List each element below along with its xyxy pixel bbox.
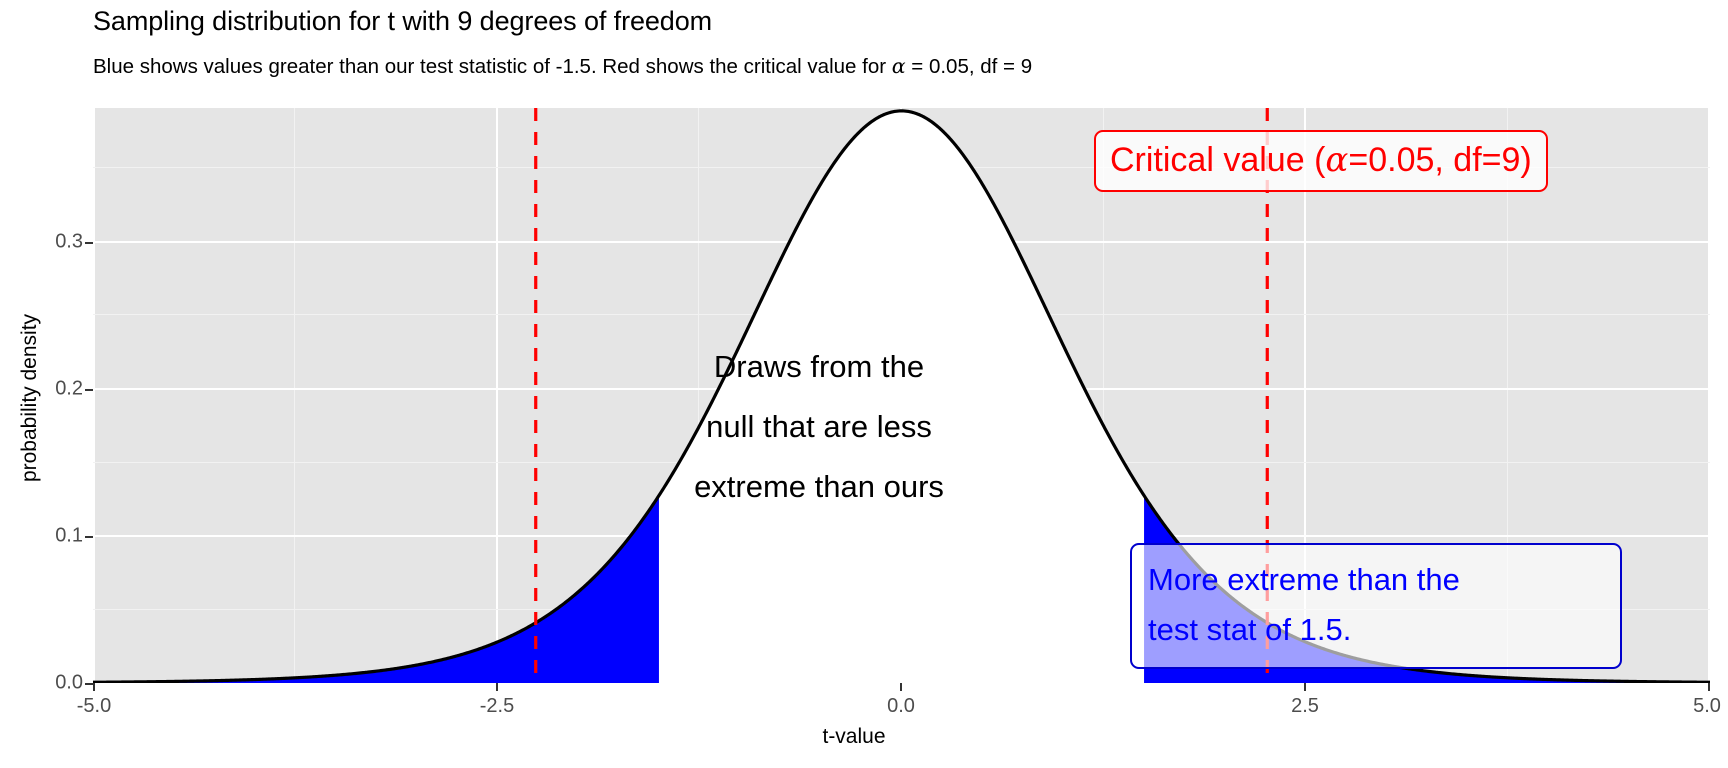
plot-panel: Draws from the null that are less extrem… (93, 108, 1710, 683)
y-tick-mark (85, 683, 93, 685)
y-tick-label: 0.2 (55, 378, 83, 401)
critical-annotation-alpha-symbol: α (1325, 140, 1348, 180)
x-tick-label: 5.0 (1693, 695, 1721, 718)
more-extreme-annotation-line1: More extreme than the (1148, 555, 1606, 605)
subtitle-alpha-symbol: α (892, 54, 906, 78)
x-tick-mark (1304, 683, 1306, 691)
x-tick-label: 0.0 (887, 695, 915, 718)
x-tick-label: -5.0 (77, 695, 111, 718)
x-axis-title-text: t-value (822, 725, 885, 749)
y-tick-mark (85, 242, 93, 244)
subtitle-part1: Blue shows values greater than our test … (93, 55, 892, 78)
x-tick-label: 2.5 (1291, 695, 1319, 718)
critical-annotation-prefix: Critical value ( (1110, 141, 1325, 179)
center-annotation-line2: null that are less (649, 397, 989, 457)
critical-value-annotation-box: Critical value (α=0.05, df=9) (1094, 130, 1548, 192)
center-annotation-line3: extreme than ours (649, 457, 989, 517)
subtitle-part2: = 0.05, df = 9 (906, 55, 1033, 78)
x-tick-mark (93, 683, 95, 691)
more-extreme-annotation-line2: test stat of 1.5. (1148, 605, 1606, 655)
x-tick-mark (900, 683, 902, 691)
y-tick-label: 0.3 (55, 231, 83, 254)
y-axis-title: probability density (18, 218, 42, 578)
critical-annotation-suffix: =0.05, df=9) (1348, 141, 1531, 179)
chart-title: Sampling distribution for t with 9 degre… (93, 6, 712, 37)
x-axis-title: t-value (0, 725, 1728, 749)
x-tick-mark (496, 683, 498, 691)
x-tick-label: -2.5 (480, 695, 514, 718)
x-tick-mark (1708, 683, 1710, 691)
y-tick-mark (85, 389, 93, 391)
center-annotation-line1: Draws from the (649, 337, 989, 397)
y-tick-label: 0.1 (55, 525, 83, 548)
y-tick-mark (85, 536, 93, 538)
center-annotation: Draws from the null that are less extrem… (649, 337, 989, 516)
y-tick-label: 0.0 (55, 672, 83, 695)
chart-root: Sampling distribution for t with 9 degre… (0, 0, 1728, 768)
chart-subtitle: Blue shows values greater than our test … (93, 54, 1032, 79)
more-extreme-annotation-box: More extreme than the test stat of 1.5. (1130, 543, 1622, 669)
